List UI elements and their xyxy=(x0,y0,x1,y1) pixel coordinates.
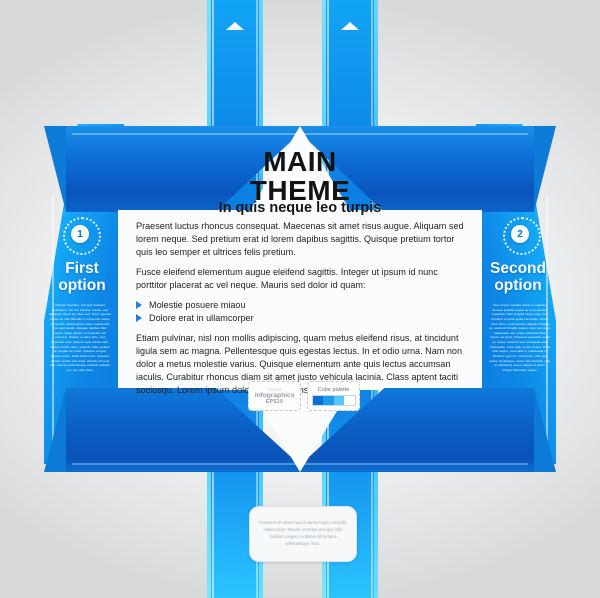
body-paragraph-1: Praesent luctus rhoncus consequat. Maece… xyxy=(136,220,466,259)
page-title: MAIN THEME xyxy=(0,148,600,205)
play-triangle-icon xyxy=(136,314,142,322)
badge-line-3: EPS10 xyxy=(266,399,283,405)
footer-callout-text: Praesent sit amet mauris varius turpis c… xyxy=(250,520,356,547)
sidebar-item-second-option[interactable]: Second option xyxy=(480,260,556,295)
body-paragraph-2: Fusce eleifend elementum augue eleifend … xyxy=(136,266,466,292)
sidebar-item-first-option[interactable]: First option xyxy=(44,260,120,295)
footer-callout-box: Praesent sit amet mauris varius turpis c… xyxy=(249,506,357,562)
infographic-canvas: MAIN THEME In quis neque leo turpis Prae… xyxy=(0,0,600,598)
option-1-body-text: Aliquam faucibus, nisi quis tincidunt ve… xyxy=(49,303,111,373)
color-palette-badge: Color palette xyxy=(307,381,360,411)
bullet-label: Molestie posuere miaou xyxy=(149,300,246,310)
option-2-number: 2 xyxy=(511,225,529,243)
palette-swatches xyxy=(312,395,356,406)
option-1-label-line-1: First xyxy=(44,260,120,277)
bottom-band-left-fold xyxy=(44,388,66,472)
list-item: Molestie posuere miaou xyxy=(136,299,466,312)
bottom-band-right-fold xyxy=(534,388,556,472)
option-2-body-text: Sed viverra suscipit metus a molestie. A… xyxy=(489,303,551,373)
play-triangle-icon xyxy=(136,301,142,309)
option-1-label-line-2: option xyxy=(44,277,120,294)
swatch-4 xyxy=(344,396,355,405)
option-2-label-line-1: Second xyxy=(480,260,556,277)
palette-label: Color palette xyxy=(318,387,350,393)
up-arrow-icon-left xyxy=(226,22,244,30)
option-1-number: 1 xyxy=(71,225,89,243)
page-subtitle: In quis neque leo turpis xyxy=(0,200,600,216)
swatch-2 xyxy=(323,396,334,405)
title-line-1: MAIN xyxy=(0,148,600,177)
option-2-label-line-2: option xyxy=(480,277,556,294)
swatch-3 xyxy=(334,396,345,405)
main-body-text: Praesent luctus rhoncus consequat. Maece… xyxy=(136,220,466,404)
vector-infographics-badge: Vector infographics EPS10 xyxy=(248,381,301,411)
badge-line-2: infographics xyxy=(255,392,295,399)
list-item: Dolore erat in ullamcorper xyxy=(136,312,466,325)
bullet-label: Dolore erat in ullamcorper xyxy=(149,313,254,323)
feature-bullet-list: Molestie posuere miaou Dolore erat in ul… xyxy=(136,299,466,326)
up-arrow-icon-right xyxy=(341,22,359,30)
swatch-1 xyxy=(313,396,324,405)
badge-row: Vector infographics EPS10 Color palette xyxy=(248,381,360,411)
